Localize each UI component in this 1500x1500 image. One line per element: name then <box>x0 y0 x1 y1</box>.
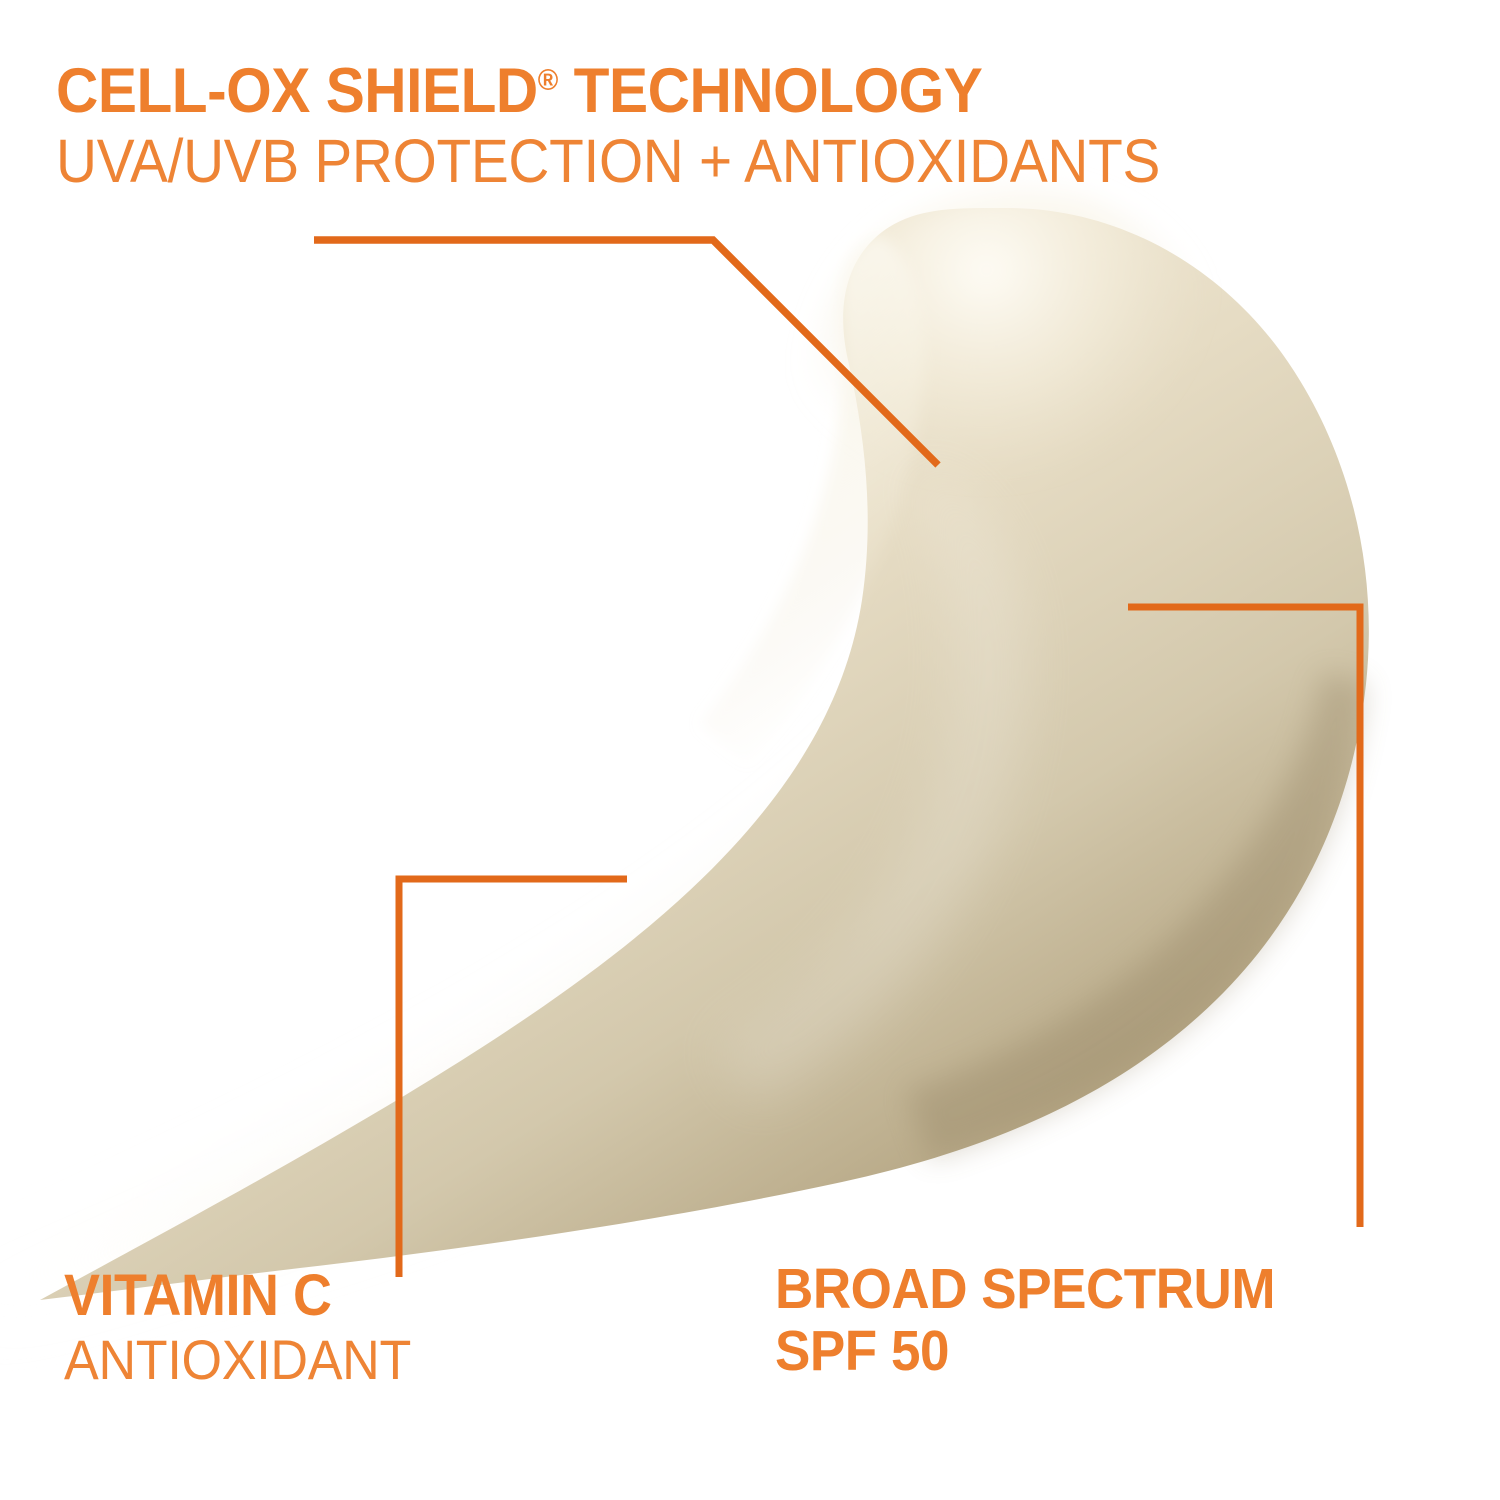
cream-blob-sheen <box>810 190 1230 590</box>
cream-blob-edge-shadow <box>906 672 1366 1160</box>
header-title-suffix: TECHNOLOGY <box>558 56 983 126</box>
registered-trademark-icon: ® <box>538 64 558 97</box>
cream-blob-inner-highlight <box>712 470 1027 1104</box>
header-block: CELL-OX SHIELD® TECHNOLOGY UVA/UVB PROTE… <box>56 48 1456 196</box>
callout-vitamin-c: VITAMIN C ANTIOXIDANT <box>64 1264 437 1392</box>
infographic-canvas: CELL-OX SHIELD® TECHNOLOGY UVA/UVB PROTE… <box>0 0 1500 1500</box>
cream-tail-highlight <box>0 700 945 1285</box>
leader-line-broad-spectrum <box>1128 607 1360 1227</box>
callout-broad-spectrum-subtitle: SPF 50 <box>775 1320 1275 1382</box>
cream-blob-lip <box>700 235 924 766</box>
callout-broad-spectrum-title: BROAD SPECTRUM <box>775 1258 1275 1320</box>
leader-line-cell-ox-shield <box>314 240 938 465</box>
callout-vitamin-c-title: VITAMIN C <box>64 1264 411 1328</box>
header-title-text: CELL-OX SHIELD <box>56 56 538 126</box>
leader-line-vitamin-c <box>399 879 627 1277</box>
header-subtitle-uva-uvb: UVA/UVB PROTECTION + ANTIOXIDANTS <box>56 126 1358 196</box>
cream-blob <box>40 208 1369 1300</box>
callout-vitamin-c-subtitle: ANTIOXIDANT <box>64 1328 411 1392</box>
header-title-cell-ox-shield: CELL-OX SHIELD® TECHNOLOGY <box>56 48 1358 124</box>
cream-tail-mass <box>0 720 1010 1330</box>
callout-broad-spectrum: BROAD SPECTRUM SPF 50 <box>775 1258 1313 1382</box>
